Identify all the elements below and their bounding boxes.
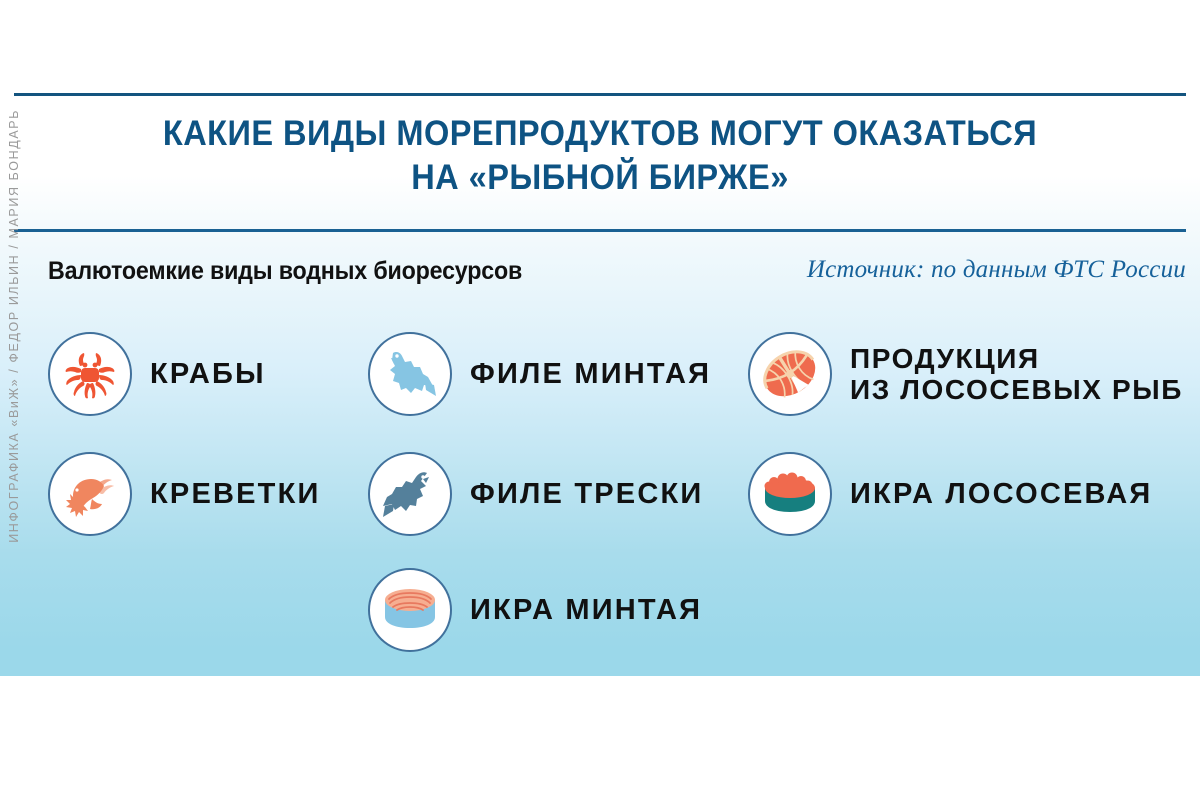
divider-line-top — [14, 93, 1186, 96]
pollock-roe-icon — [381, 586, 439, 634]
list-item-crab[interactable]: КРАБЫ — [48, 332, 266, 416]
salmon-badge — [748, 332, 832, 416]
list-item-salmon[interactable]: ПРОДУКЦИЯ ИЗ ЛОСОСЕВЫХ РЫБ — [748, 332, 1183, 416]
cod-fish-icon — [381, 465, 439, 523]
credit-byline: ИНФОГРАФИКА «ВиЖ» / ФЕДОР ИЛЬИН / МАРИЯ … — [7, 109, 21, 809]
pollock-roe-badge — [368, 568, 452, 652]
page-title: КАКИЕ ВИДЫ МОРЕПРОДУКТОВ МОГУТ ОКАЗАТЬСЯ… — [98, 112, 1102, 200]
list-item-label: ПРОДУКЦИЯ ИЗ ЛОСОСЕВЫХ РЫБ — [850, 343, 1183, 406]
list-item-cod[interactable]: ФИЛЕ ТРЕСКИ — [368, 452, 703, 536]
list-item-label: ФИЛЕ МИНТАЯ — [470, 358, 711, 390]
shrimp-icon — [62, 466, 118, 522]
list-item-label: ИКРА МИНТАЯ — [470, 594, 702, 626]
salmon-roe-badge — [748, 452, 832, 536]
cod-badge — [368, 452, 452, 536]
shrimp-badge — [48, 452, 132, 536]
list-item-label: КРЕВЕТКИ — [150, 478, 321, 510]
pollock-fish-icon — [381, 345, 439, 403]
list-item-salmon-roe[interactable]: ИКРА ЛОСОСЕВАЯ — [748, 452, 1152, 536]
salmon-steak-icon — [760, 345, 820, 403]
crab-badge — [48, 332, 132, 416]
list-item-shrimp[interactable]: КРЕВЕТКИ — [48, 452, 321, 536]
list-item-pollock[interactable]: ФИЛЕ МИНТАЯ — [368, 332, 711, 416]
list-item-pollock-roe[interactable]: ИКРА МИНТАЯ — [368, 568, 702, 652]
list-item-label: ИКРА ЛОСОСЕВАЯ — [850, 478, 1152, 510]
source-note: Источник: по данным ФТС России — [807, 256, 1186, 284]
infographic-canvas: КАКИЕ ВИДЫ МОРЕПРОДУКТОВ МОГУТ ОКАЗАТЬСЯ… — [0, 0, 1200, 800]
pollock-badge — [368, 332, 452, 416]
salmon-roe-icon — [761, 470, 819, 518]
crab-icon — [62, 347, 118, 401]
subheading-label: Валютоемкие виды водных биоресурсов — [48, 257, 522, 286]
list-item-label: КРАБЫ — [150, 358, 266, 390]
divider-line-middle — [14, 229, 1186, 232]
list-item-label: ФИЛЕ ТРЕСКИ — [470, 478, 703, 510]
